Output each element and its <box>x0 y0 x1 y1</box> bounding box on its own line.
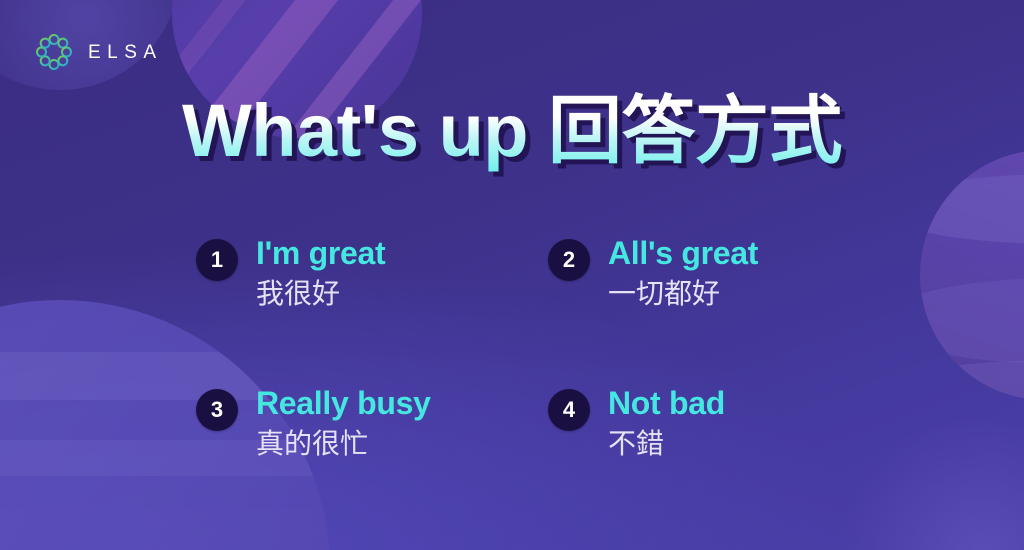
item-chinese-translation: 我很好 <box>256 276 385 311</box>
item-chinese-translation: 不錯 <box>608 426 725 461</box>
item-texts: Not bad 不錯 <box>608 386 725 461</box>
item-english-phrase: Not bad <box>608 386 725 422</box>
planet-band <box>920 360 1024 400</box>
item-number-badge: 2 <box>548 239 590 281</box>
list-item: 4 Not bad 不錯 <box>548 386 896 536</box>
item-texts: All's great 一切都好 <box>608 236 758 311</box>
item-chinese-translation: 一切都好 <box>608 276 758 311</box>
item-chinese-translation: 真的很忙 <box>256 426 431 461</box>
item-number-badge: 4 <box>548 389 590 431</box>
slide-canvas: ELSA What's up 回答方式 What's up 回答方式 1 I'm… <box>0 0 1024 550</box>
title-container: What's up 回答方式 What's up 回答方式 <box>0 92 1024 170</box>
page-title-text: What's up 回答方式 <box>182 89 842 172</box>
list-item: 3 Really busy 真的很忙 <box>196 386 548 536</box>
answer-list: 1 I'm great 我很好 2 All's great 一切都好 3 Rea… <box>196 236 896 536</box>
elsa-flower-logo-icon <box>34 32 74 72</box>
item-english-phrase: Really busy <box>256 386 431 422</box>
item-english-phrase: All's great <box>608 236 758 272</box>
background-planet-right <box>920 150 1024 400</box>
item-number-badge: 3 <box>196 389 238 431</box>
item-texts: I'm great 我很好 <box>256 236 385 311</box>
item-english-phrase: I'm great <box>256 236 385 272</box>
page-title: What's up 回答方式 What's up 回答方式 <box>182 92 842 170</box>
planet-band <box>920 174 1024 244</box>
brand-name: ELSA <box>88 43 163 62</box>
item-texts: Really busy 真的很忙 <box>256 386 431 461</box>
item-number-badge: 1 <box>196 239 238 281</box>
planet-band <box>920 278 1024 364</box>
list-item: 2 All's great 一切都好 <box>548 236 896 386</box>
brand-logo: ELSA <box>34 32 163 72</box>
list-item: 1 I'm great 我很好 <box>196 236 548 386</box>
